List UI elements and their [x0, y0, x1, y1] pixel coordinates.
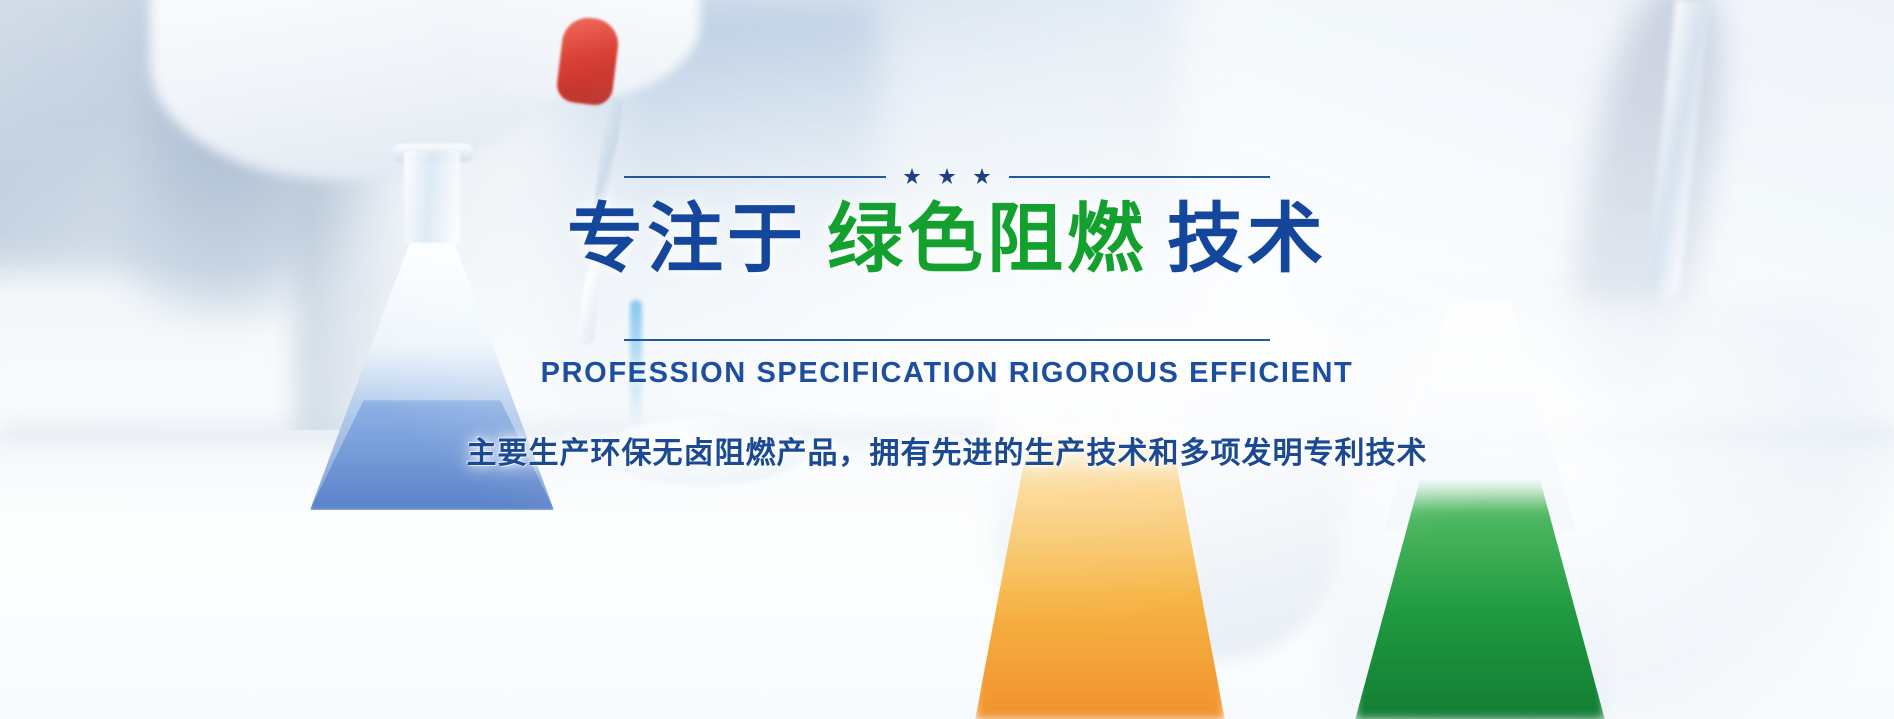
star-icon	[904, 168, 921, 185]
title-underline	[624, 339, 1270, 341]
star-icon	[974, 168, 991, 185]
star-icon	[939, 168, 956, 185]
banner-title: 专注于绿色阻燃技术	[567, 197, 1327, 282]
hero-banner: 专注于绿色阻燃技术 PROFESSION SPECIFICATION RIGOR…	[0, 0, 1894, 719]
banner-description: 主要生产环保无卤阻燃产品，拥有先进的生产技术和多项发明专利技术	[467, 428, 1428, 472]
title-segment-1: 专注于	[567, 197, 807, 282]
banner-subtitle: PROFESSION SPECIFICATION RIGOROUS EFFICI…	[541, 357, 1354, 390]
decorative-rule	[624, 168, 1270, 185]
rule-line-left	[624, 176, 886, 178]
star-group	[886, 168, 1009, 185]
banner-content: 专注于绿色阻燃技术 PROFESSION SPECIFICATION RIGOR…	[0, 168, 1894, 472]
rule-line-right	[1009, 176, 1271, 178]
title-segment-3: 技术	[1167, 197, 1327, 282]
title-segment-2: 绿色阻燃	[827, 197, 1147, 282]
